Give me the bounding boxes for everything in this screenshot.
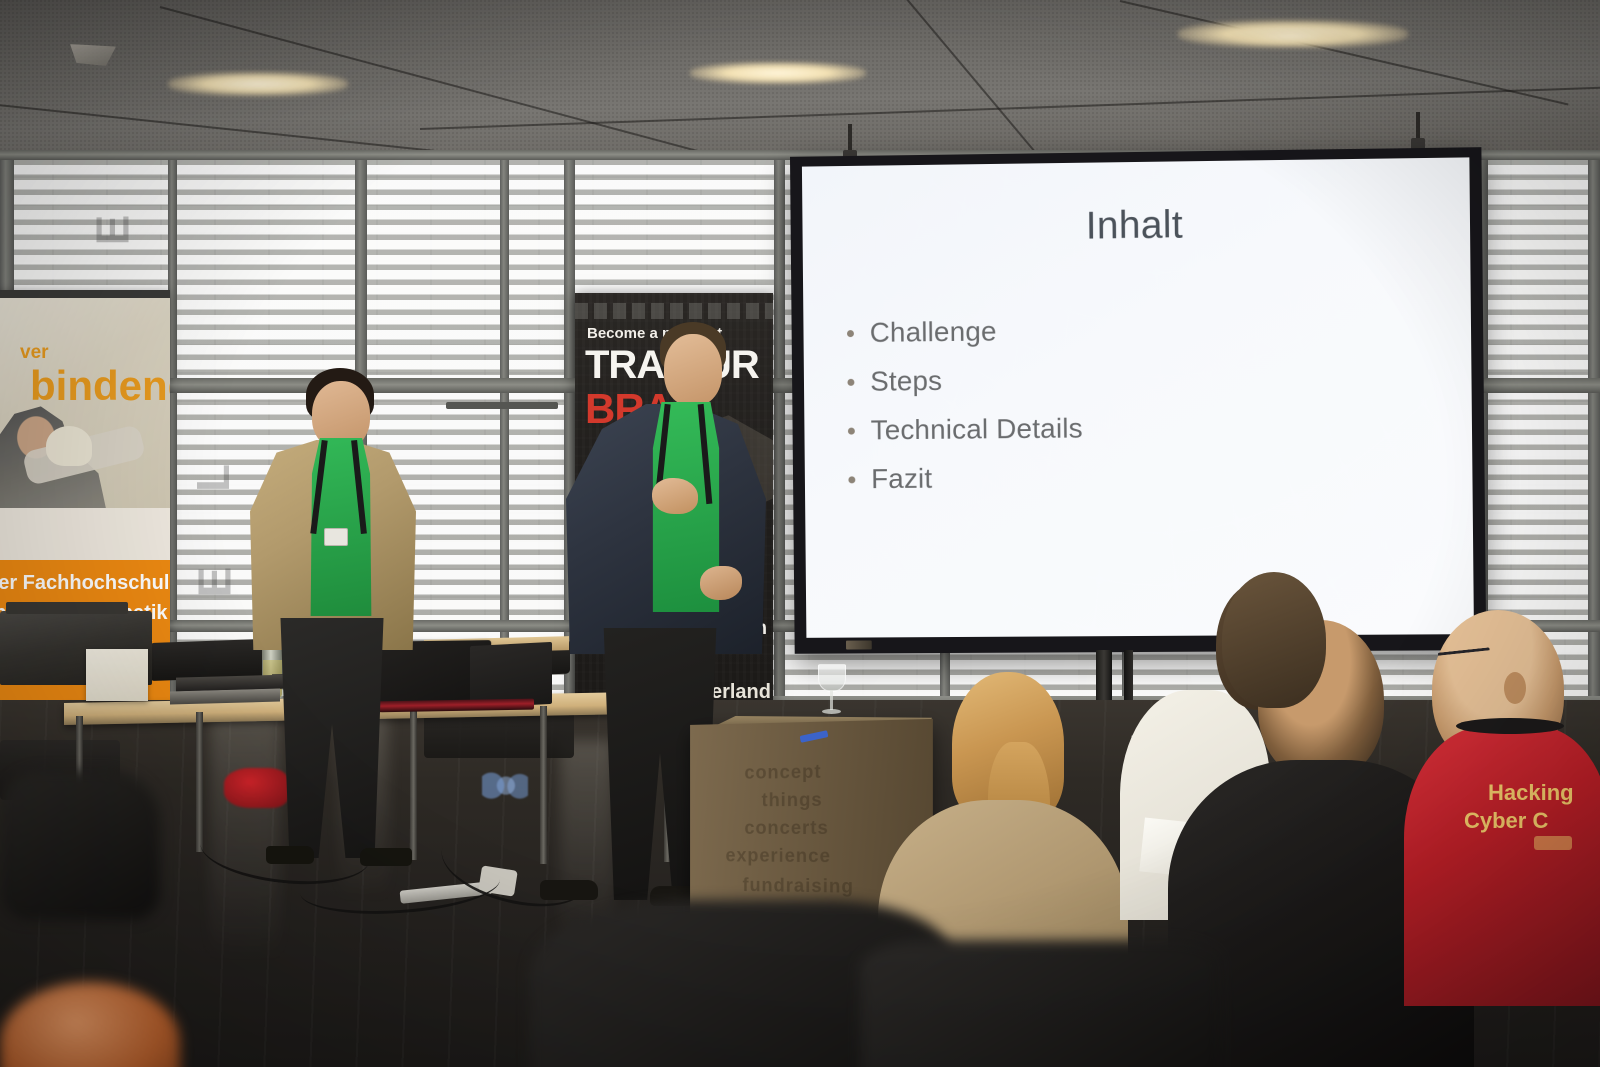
attendee-red-shirt-torso [1404,726,1600,1006]
bullet-dot-icon [847,330,854,337]
table-leg [196,712,203,852]
table-leg [410,710,417,860]
presenter-right-head [664,334,722,406]
water-bottles-floor [482,772,528,806]
presenter-left-shoe [266,846,314,864]
banner-photo-object [46,426,92,466]
bullet-dot-icon [848,476,855,483]
attendee-red-shirt-collar [1456,718,1564,734]
slide-bullet-item: Steps [847,364,1082,398]
projection-screen[interactable]: Inhalt Challenge Steps Technical Details… [790,147,1486,654]
wine-glass [818,664,844,716]
paper-box [86,649,148,701]
ghost-window-letter: E [187,565,241,598]
wine-glass-bowl [818,664,846,692]
slide-bullet-label: Steps [870,365,942,398]
podium-embossed-line: concept [744,762,821,785]
banner-left-rail [0,290,170,298]
slide-title: Inhalt [802,200,1470,252]
wine-glass-stem [830,690,833,710]
foreground-chair [860,940,1220,1067]
attendee-red-shirt-text-line-1: Hacking [1488,780,1574,806]
bullet-dot-icon [848,428,855,435]
slide-bullet-label: Challenge [870,316,997,349]
presenter-right-hand [652,478,698,514]
slide-bullet-item: Technical Details [848,413,1083,447]
ceiling [0,0,1600,160]
podium-embossed-line: fundraising [743,875,854,899]
attendee-red-shirt-ear [1504,672,1526,704]
podium-embossed-line: experience [726,846,831,869]
ghost-window-letter: E [85,213,139,246]
slide-bullet-label: Fazit [871,463,932,495]
slide-bullet-item: Challenge [847,315,1082,349]
wine-glass-foot [822,709,841,714]
ceiling-light [1230,30,1350,44]
attendee-red-shirt-logo [1534,836,1572,850]
ceiling-light [690,62,866,84]
banner-left-org-line-1: ner Fachhochschule [0,572,170,595]
presenter-left-badge [324,528,348,546]
banner-left-headline: bindend [30,362,170,410]
ghost-window-letter: L [186,462,240,492]
podium-embossed-line: concerts [744,818,828,840]
attendee-beard-head [1222,572,1326,708]
ceiling-light [168,72,348,96]
printer-output-tray [6,602,128,614]
red-bag [224,768,288,808]
conference-room-scene: E L E ver bindend ner Fach [0,0,1600,1067]
screen-brand-label [846,640,872,649]
attendee-red-shirt-text-line-2: Cyber C [1464,808,1548,834]
banner-right-ticker-strip [575,303,773,319]
presenter-right-hand [700,566,742,600]
banner-left-headline-small: ver [20,342,49,364]
slide-bullet-label: Technical Details [871,413,1083,447]
podium-embossed-line: things [762,790,823,812]
presenter-right-shoe [540,880,598,900]
presentation-slide: Inhalt Challenge Steps Technical Details… [802,157,1474,637]
foreground-bag [0,770,160,920]
bullet-dot-icon [847,379,854,386]
window-handle[interactable] [446,402,558,409]
slide-bullet-item: Fazit [848,461,1083,495]
presenter-left-shoe [360,848,412,866]
slide-bullet-list: Challenge Steps Technical Details Fazit [847,315,1084,513]
